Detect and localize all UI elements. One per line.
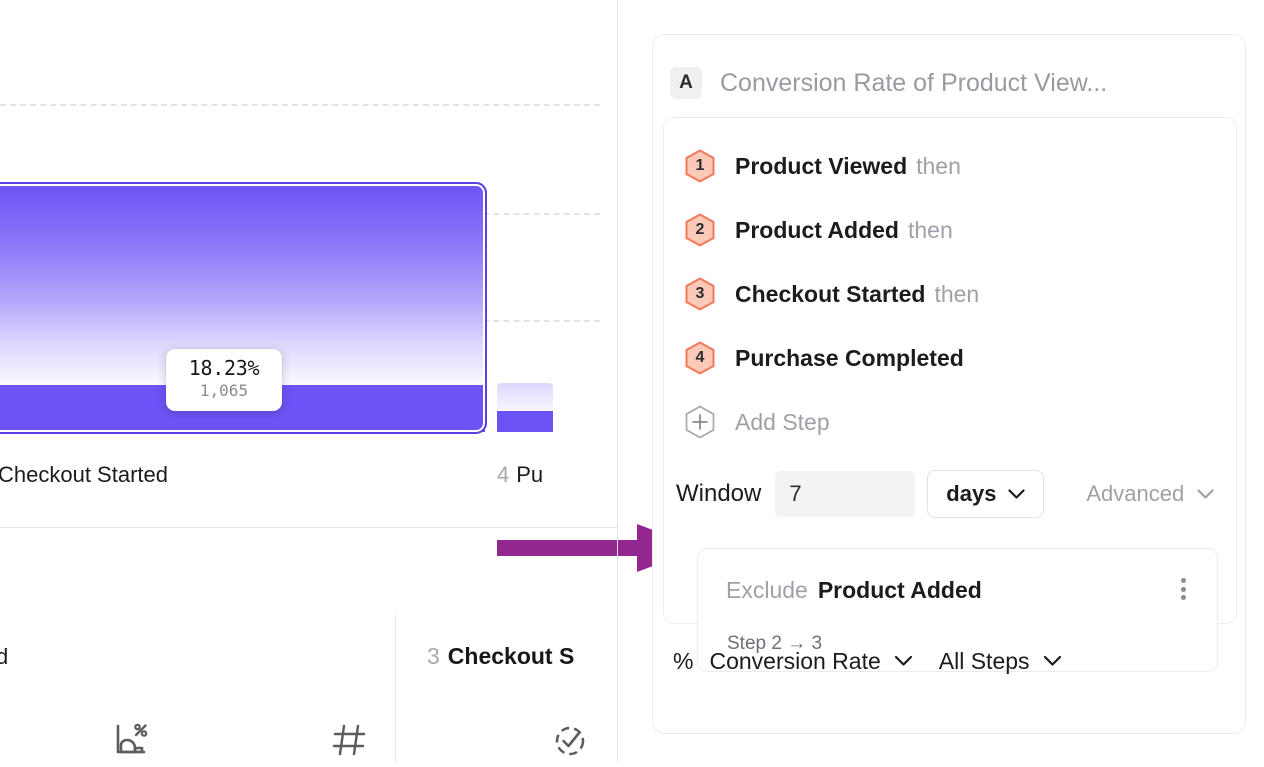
chevron-down-icon xyxy=(1008,489,1025,500)
step-number-badge: 4 xyxy=(684,341,716,375)
exclude-prefix: Exclude xyxy=(726,577,808,604)
step-connector[interactable]: then xyxy=(916,153,961,179)
funnel-step-3[interactable]: 3 Checkout Startedthen xyxy=(684,277,979,311)
window-unit-select[interactable]: days xyxy=(927,470,1044,518)
window-row: Window 7 days Advanced xyxy=(676,471,1214,517)
dot xyxy=(1181,578,1186,583)
x-axis-label-4: 4Pu xyxy=(497,462,543,488)
step-number: 1 xyxy=(696,158,705,174)
funnel-chart-region: 18.23% 1,065 Checkout Started 4Pu d 3Che… xyxy=(0,0,618,762)
bar-gradient-body xyxy=(497,383,553,411)
tooltip-percent: 18.23% xyxy=(189,358,259,379)
chevron-down-icon xyxy=(1197,489,1214,500)
kebab-menu-icon[interactable] xyxy=(1171,575,1195,603)
step-label: Product Viewed xyxy=(735,153,907,179)
step-number: 3 xyxy=(696,286,705,302)
bar-solid-base xyxy=(497,411,553,432)
window-unit-label: days xyxy=(946,481,996,507)
check-clock-icon[interactable] xyxy=(548,718,592,767)
chevron-down-icon[interactable] xyxy=(1043,655,1062,667)
dot xyxy=(1181,595,1186,600)
funnel-step-2[interactable]: 2 Product Addedthen xyxy=(684,213,953,247)
x-axis-label-number: 4 xyxy=(497,462,509,487)
bottom-right-card-number: 3 xyxy=(427,643,440,669)
step-label: Product Added xyxy=(735,217,899,243)
step-number: 2 xyxy=(696,222,705,238)
chevron-down-icon[interactable] xyxy=(894,655,913,667)
funnel-config-panel: A Conversion Rate of Product View... 1 P… xyxy=(652,34,1246,734)
step-number-badge: 1 xyxy=(684,149,716,183)
exclude-title-row: Exclude Product Added xyxy=(726,577,982,604)
step-number-badge: 3 xyxy=(684,277,716,311)
window-label: Window xyxy=(676,480,761,508)
panel-footer-controls: % Conversion Rate All Steps xyxy=(673,643,1062,679)
step-label: Purchase Completed xyxy=(735,345,964,371)
gridline xyxy=(0,104,600,106)
x-axis-label-3: Checkout Started xyxy=(0,462,168,488)
dot xyxy=(1181,587,1186,592)
step-connector[interactable]: then xyxy=(934,281,979,307)
panel-header[interactable]: A Conversion Rate of Product View... xyxy=(670,61,1107,105)
advanced-dropdown[interactable]: Advanced xyxy=(1086,481,1214,507)
funnel-step-1[interactable]: 1 Product Viewedthen xyxy=(684,149,961,183)
funnel-step-4[interactable]: 4 Purchase Completed xyxy=(684,341,964,375)
bottom-right-card-title: 3Checkout S xyxy=(427,643,574,670)
metric-dropdown[interactable]: Conversion Rate xyxy=(709,648,880,675)
tooltip-count: 1,065 xyxy=(200,380,248,402)
step-label-wrap: Product Addedthen xyxy=(735,217,953,244)
step-number: 4 xyxy=(696,350,705,366)
bottom-right-card-label: Checkout S xyxy=(448,643,575,669)
step-label-wrap: Product Viewedthen xyxy=(735,153,961,180)
bottom-left-partial-label: d xyxy=(0,644,8,670)
x-axis-label-text: Checkout Started xyxy=(0,462,168,487)
plus-hexagon-icon xyxy=(684,405,716,439)
step-label-wrap: Purchase Completed xyxy=(735,345,964,372)
advanced-label: Advanced xyxy=(1086,481,1184,507)
exclude-event-name: Product Added xyxy=(818,577,982,604)
scope-dropdown[interactable]: All Steps xyxy=(939,648,1030,675)
main-vertical-divider xyxy=(617,0,618,762)
card-divider xyxy=(395,615,396,762)
window-value-input[interactable]: 7 xyxy=(775,471,915,517)
hash-icon[interactable] xyxy=(327,718,371,767)
add-step-button[interactable]: Add Step xyxy=(684,405,830,439)
step-number-badge: 2 xyxy=(684,213,716,247)
funnel-steps-card: 1 Product Viewedthen 2 Product Addedthen… xyxy=(663,117,1237,624)
panel-title[interactable]: Conversion Rate of Product View... xyxy=(720,69,1107,98)
step-label-wrap: Checkout Startedthen xyxy=(735,281,979,308)
step-label: Checkout Started xyxy=(735,281,925,307)
step-connector[interactable]: then xyxy=(908,217,953,243)
funnel-percent-icon[interactable] xyxy=(108,718,152,767)
series-letter-badge: A xyxy=(670,67,702,99)
percent-icon: % xyxy=(673,648,693,675)
funnel-bar-purchase-completed[interactable] xyxy=(497,383,553,432)
x-axis-label-text: Pu xyxy=(516,462,543,487)
chart-tooltip: 18.23% 1,065 xyxy=(166,349,282,411)
add-step-label: Add Step xyxy=(735,409,830,436)
